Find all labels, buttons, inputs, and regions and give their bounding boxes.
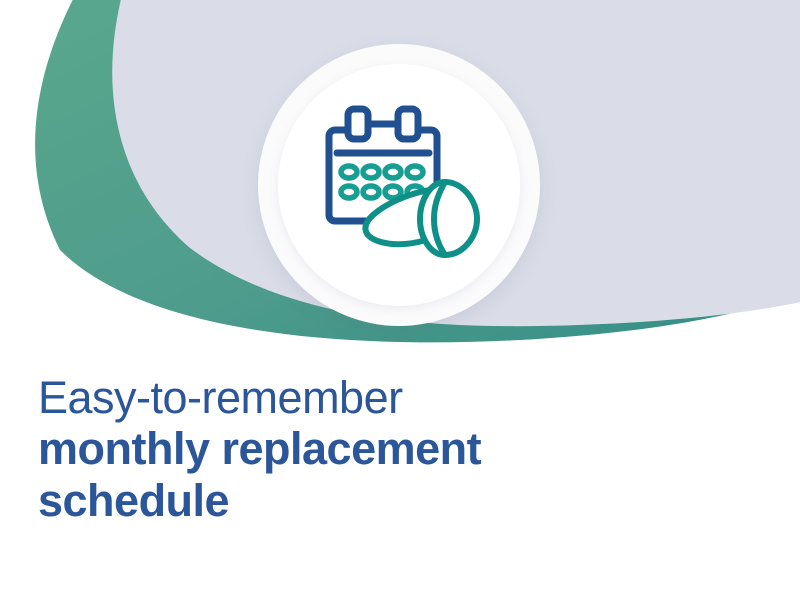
contact-lenses-icon xyxy=(365,182,477,255)
headline-line-1: Easy-to-remember xyxy=(38,372,638,423)
date-dot xyxy=(385,166,401,178)
calendar-with-contact-lenses-icon xyxy=(311,97,487,273)
headline-line-2: monthly replacement xyxy=(38,423,638,474)
date-dot xyxy=(341,166,357,178)
headline-line-3: schedule xyxy=(38,475,638,526)
promo-card: Easy-to-remember monthly replacement sch… xyxy=(0,0,800,600)
date-dot xyxy=(363,186,379,198)
icon-medallion xyxy=(258,44,540,326)
calendar-ring-left xyxy=(348,109,368,139)
date-dot xyxy=(407,166,423,178)
calendar-ring-right xyxy=(398,109,418,139)
date-dot xyxy=(363,166,379,178)
contact-lens-upright xyxy=(420,182,477,255)
date-dot xyxy=(341,186,357,198)
headline-block: Easy-to-remember monthly replacement sch… xyxy=(38,372,638,526)
